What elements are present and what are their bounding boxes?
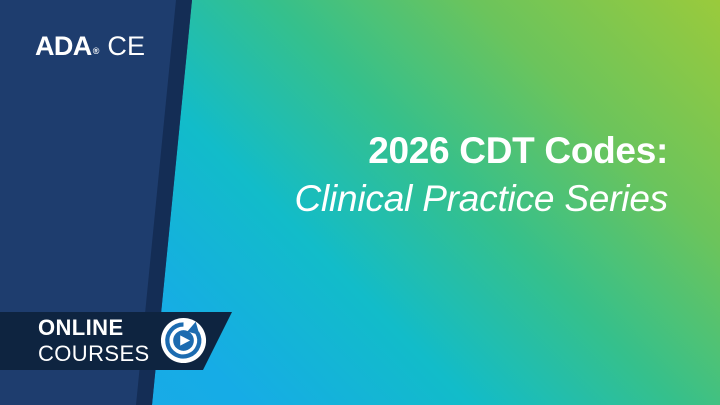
- title-line-primary: 2026 CDT Codes:: [294, 129, 668, 173]
- promo-banner-slide: ADA ® CE 2026 CDT Codes: Clinical Practi…: [0, 0, 720, 405]
- ada-ce-logo: ADA ® CE: [35, 33, 145, 60]
- banner-line-online: ONLINE: [38, 317, 150, 339]
- logo-ce-text: CE: [107, 33, 145, 60]
- registered-trademark-icon: ®: [93, 47, 100, 56]
- title-line-subtitle: Clinical Practice Series: [294, 177, 668, 221]
- online-courses-label: ONLINE COURSES: [38, 317, 150, 365]
- play-circle-icon: [160, 317, 207, 364]
- logo-ada-text: ADA: [35, 33, 92, 60]
- banner-line-courses: COURSES: [38, 343, 150, 365]
- page-title: 2026 CDT Codes: Clinical Practice Series: [294, 129, 668, 221]
